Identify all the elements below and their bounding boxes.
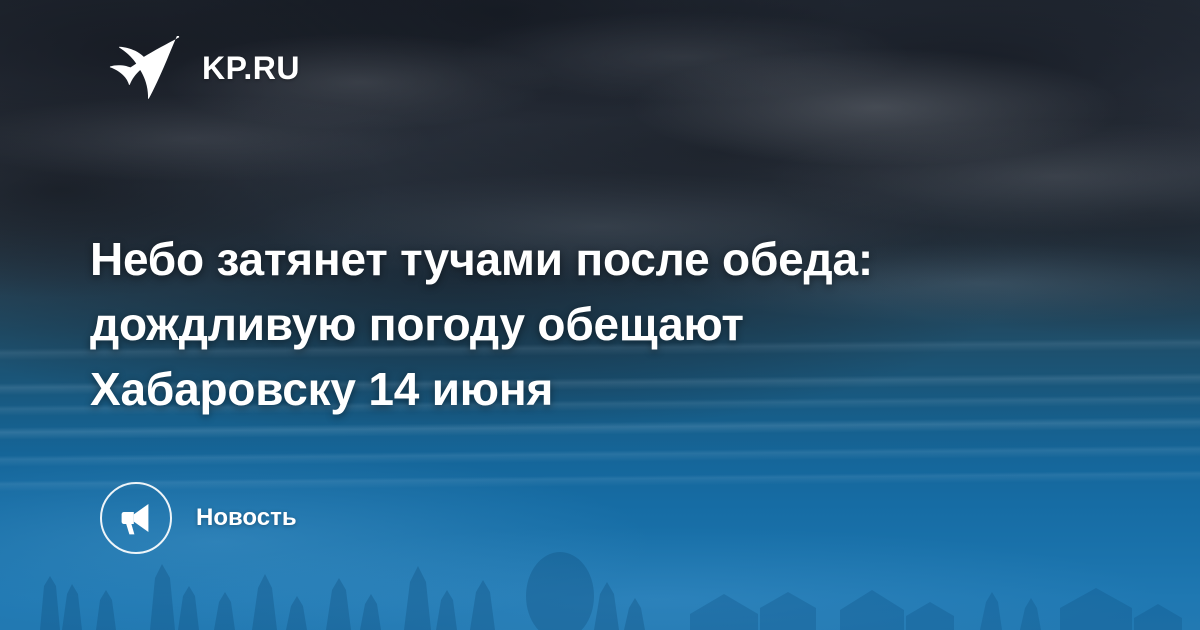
swallow-bird-icon [108, 36, 180, 100]
category-badge[interactable]: Новость [100, 482, 297, 554]
badge-label: Новость [196, 506, 297, 530]
site-logo[interactable]: KP.RU [108, 36, 300, 100]
megaphone-icon [100, 482, 172, 554]
headline-line-1: Небо затянет тучами после обеда: [90, 227, 1100, 292]
card-content: KP.RU Небо затянет тучами после обеда: д… [0, 0, 1200, 630]
logo-wordmark: KP.RU [202, 52, 300, 84]
headline-line-3: Хабаровску 14 июня [90, 357, 1100, 422]
headline-line-2: дождливую погоду обещают [90, 292, 1100, 357]
article-share-card: KP.RU Небо затянет тучами после обеда: д… [0, 0, 1200, 630]
page-title: Небо затянет тучами после обеда: дождлив… [90, 227, 1100, 422]
